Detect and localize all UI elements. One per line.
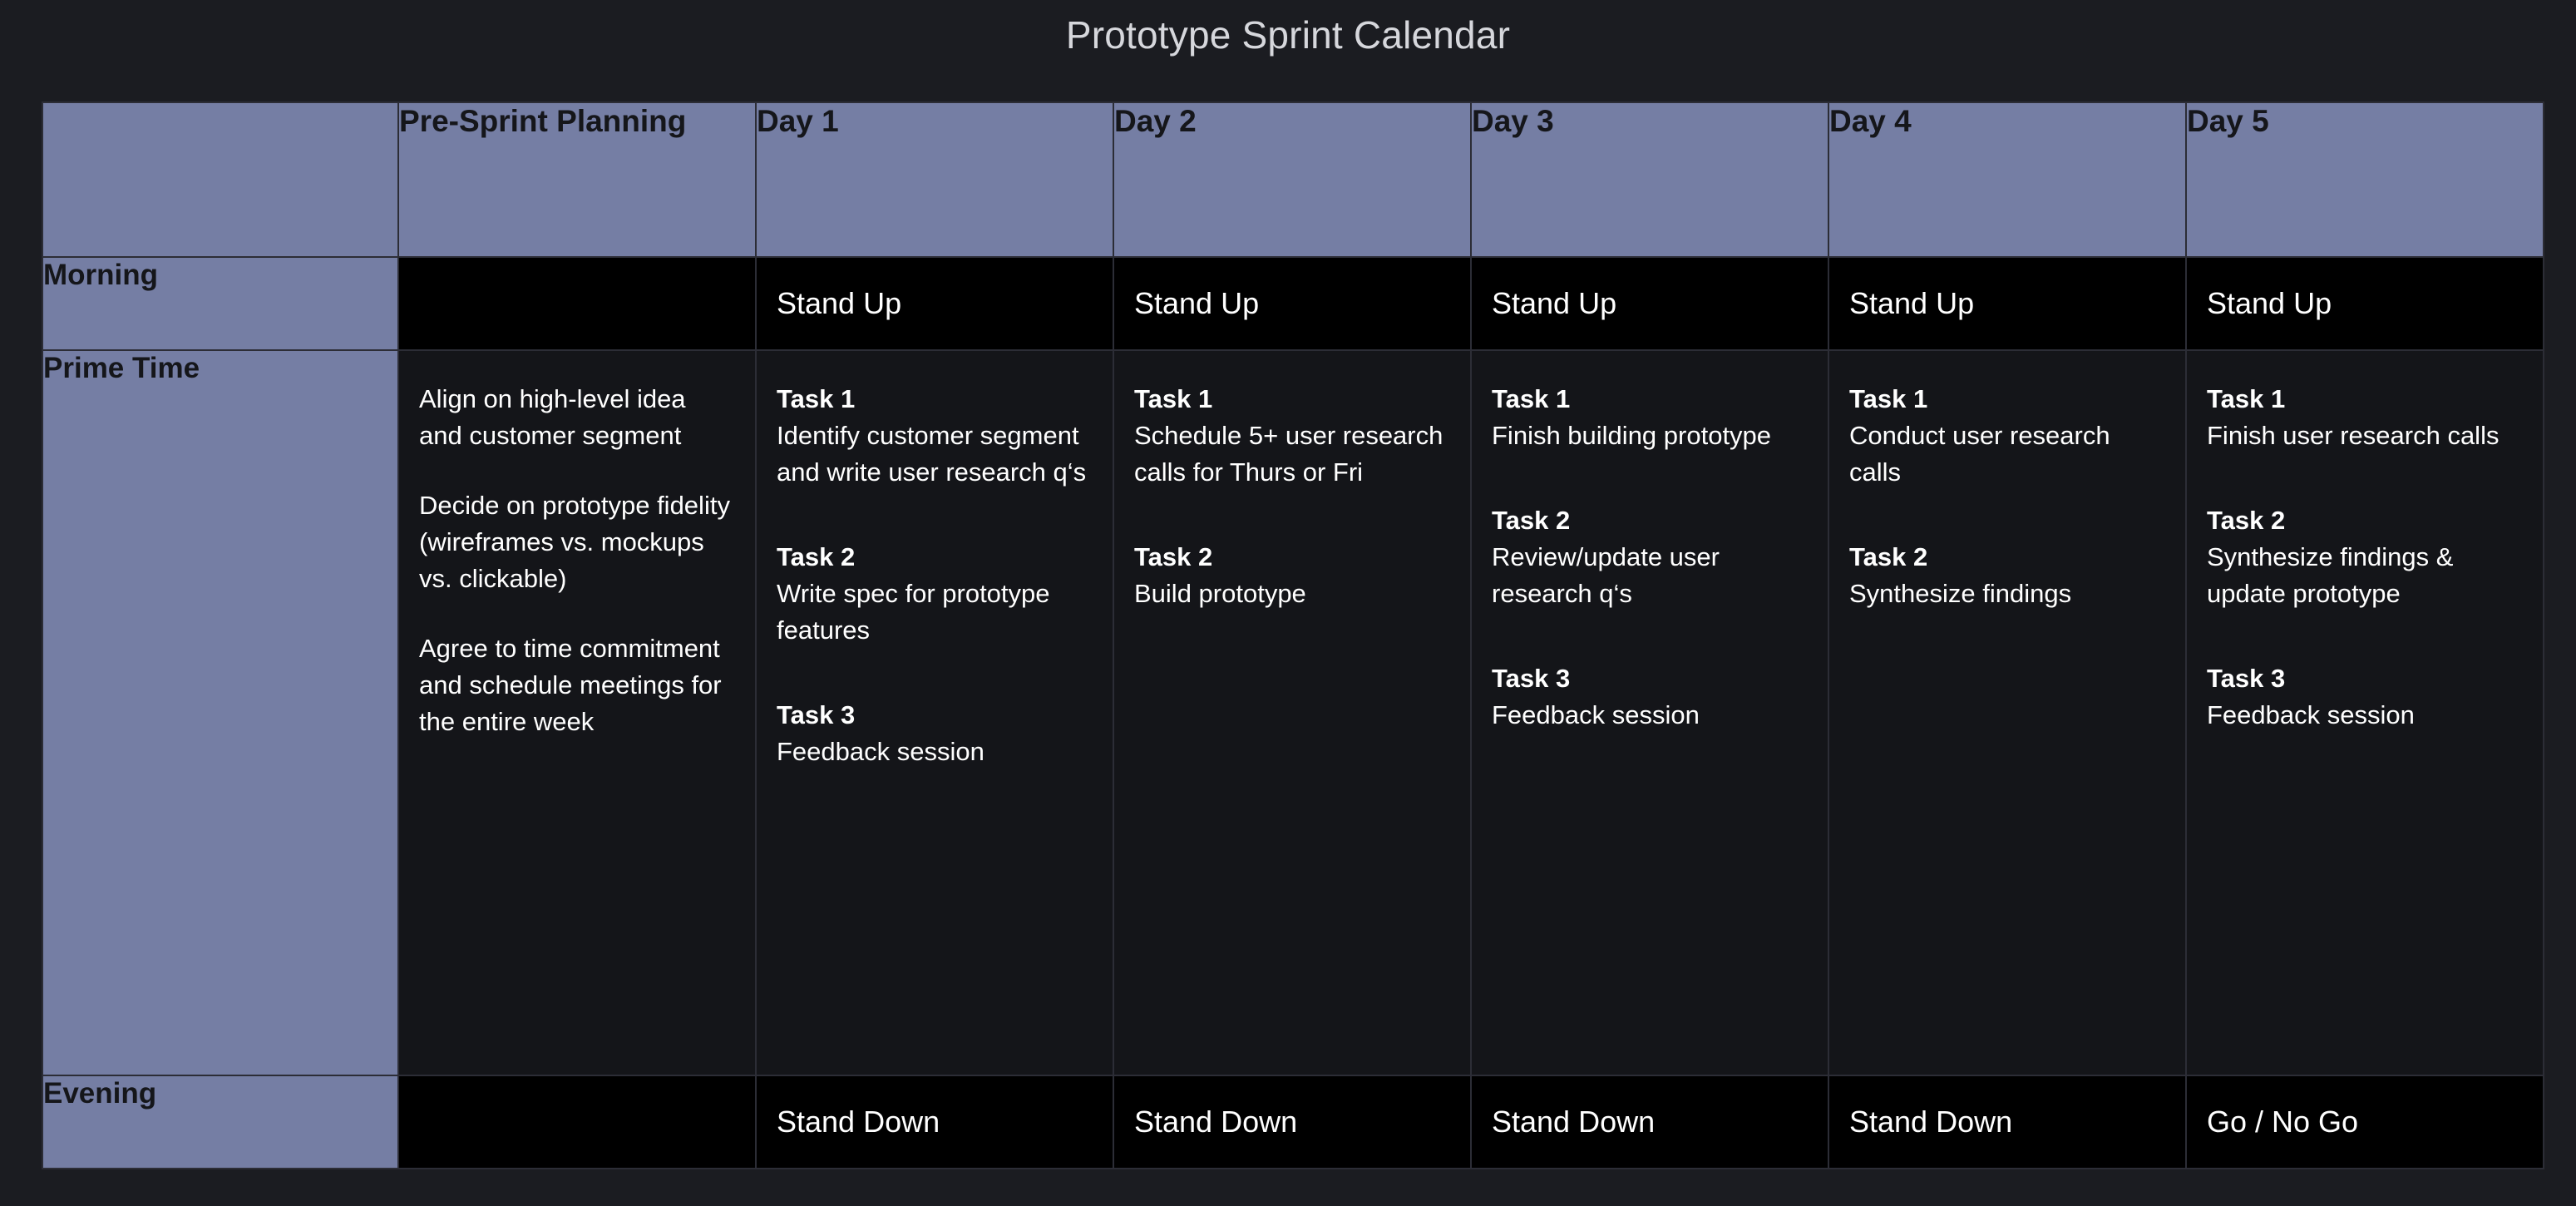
task-block: Task 1 Conduct user research calls — [1849, 381, 2165, 491]
row-label-evening: Evening — [42, 1075, 398, 1169]
task-title: Task 2 — [1492, 502, 1808, 539]
task-title: Task 1 — [777, 381, 1093, 418]
header-pre-sprint-planning: Pre-Sprint Planning — [398, 102, 756, 257]
task-block: Task 1 Schedule 5+ user research calls f… — [1134, 381, 1450, 491]
cell-morning-pre-sprint — [398, 257, 756, 350]
table-row-morning: Morning Stand Up Stand Up Stand Up Stand… — [42, 257, 2544, 350]
task-title: Task 1 — [1849, 381, 2165, 418]
table-header-row: Pre-Sprint Planning Day 1 Day 2 Day 3 Da… — [42, 102, 2544, 257]
cell-evening-day-2: Stand Down — [1113, 1075, 1471, 1169]
task-block: Task 1 Finish user research calls — [2207, 381, 2523, 454]
cell-evening-day-5: Go / No Go — [2186, 1075, 2544, 1169]
header-day-5: Day 5 — [2186, 102, 2544, 257]
task-description: Review/update user research q‘s — [1492, 539, 1808, 612]
task-description: Schedule 5+ user research calls for Thur… — [1134, 418, 1450, 491]
cell-prime-day-5: Task 1 Finish user research calls Task 2… — [2186, 350, 2544, 1075]
task-description: Feedback session — [2207, 697, 2523, 734]
task-title: Task 1 — [2207, 381, 2523, 418]
task-description: Conduct user research calls — [1849, 418, 2165, 491]
task-title: Task 3 — [777, 697, 1093, 734]
task-description: Feedback session — [1492, 697, 1808, 734]
cell-evening-day-4: Stand Down — [1828, 1075, 2186, 1169]
task-description: Synthesize findings — [1849, 576, 2165, 612]
task-block: Task 2 Synthesize findings — [1849, 539, 2165, 612]
table-row-prime-time: Prime Time Align on high-level idea and … — [42, 350, 2544, 1075]
cell-morning-day-2: Stand Up — [1113, 257, 1471, 350]
task-description: Synthesize findings & update prototype — [2207, 539, 2523, 612]
cell-evening-day-3: Stand Down — [1471, 1075, 1828, 1169]
task-block: Task 1 Finish building prototype — [1492, 381, 1808, 454]
cell-prime-day-1: Task 1 Identify customer segment and wri… — [756, 350, 1113, 1075]
task-title: Task 2 — [2207, 502, 2523, 539]
task-block: Task 3 Feedback session — [1492, 660, 1808, 734]
cell-prime-pre-sprint: Align on high-level idea and customer se… — [398, 350, 756, 1075]
calendar-container: Pre-Sprint Planning Day 1 Day 2 Day 3 Da… — [42, 101, 2541, 1169]
task-title: Task 2 — [1849, 539, 2165, 576]
calendar-page: Prototype Sprint Calendar Pre-Sprint Pla… — [0, 0, 2576, 1206]
row-label-prime-time: Prime Time — [42, 350, 398, 1075]
task-title: Task 1 — [1492, 381, 1808, 418]
header-day-2: Day 2 — [1113, 102, 1471, 257]
sprint-calendar-table: Pre-Sprint Planning Day 1 Day 2 Day 3 Da… — [42, 101, 2544, 1169]
cell-prime-day-2: Task 1 Schedule 5+ user research calls f… — [1113, 350, 1471, 1075]
cell-prime-day-3: Task 1 Finish building prototype Task 2 … — [1471, 350, 1828, 1075]
task-block: Task 3 Feedback session — [2207, 660, 2523, 734]
task-block: Task 2 Review/update user research q‘s — [1492, 502, 1808, 612]
task-block: Task 1 Identify customer segment and wri… — [777, 381, 1093, 491]
task-title: Task 3 — [1492, 660, 1808, 697]
cell-evening-day-1: Stand Down — [756, 1075, 1113, 1169]
pre-sprint-paragraph: Agree to time commitment and schedule me… — [419, 630, 735, 740]
table-row-evening: Evening Stand Down Stand Down Stand Down… — [42, 1075, 2544, 1169]
task-description: Write spec for prototype features — [777, 576, 1093, 649]
task-block: Task 2 Write spec for prototype features — [777, 539, 1093, 649]
task-description: Build prototype — [1134, 576, 1450, 612]
task-title: Task 3 — [2207, 660, 2523, 697]
header-day-3: Day 3 — [1471, 102, 1828, 257]
task-title: Task 2 — [777, 539, 1093, 576]
task-description: Finish user research calls — [2207, 418, 2523, 454]
pre-sprint-paragraph: Align on high-level idea and customer se… — [419, 381, 735, 454]
header-day-1: Day 1 — [756, 102, 1113, 257]
header-corner-blank — [42, 102, 398, 257]
task-block: Task 2 Build prototype — [1134, 539, 1450, 612]
row-label-morning: Morning — [42, 257, 398, 350]
task-title: Task 1 — [1134, 381, 1450, 418]
cell-morning-day-4: Stand Up — [1828, 257, 2186, 350]
pre-sprint-paragraph: Decide on prototype fidelity (wireframes… — [419, 487, 735, 597]
cell-evening-pre-sprint — [398, 1075, 756, 1169]
task-description: Finish building prototype — [1492, 418, 1808, 454]
page-title: Prototype Sprint Calendar — [0, 0, 2576, 70]
task-description: Identify customer segment and write user… — [777, 418, 1093, 491]
task-block: Task 3 Feedback session — [777, 697, 1093, 770]
cell-morning-day-5: Stand Up — [2186, 257, 2544, 350]
task-block: Task 2 Synthesize findings & update prot… — [2207, 502, 2523, 612]
header-day-4: Day 4 — [1828, 102, 2186, 257]
task-description: Feedback session — [777, 734, 1093, 770]
cell-morning-day-3: Stand Up — [1471, 257, 1828, 350]
cell-prime-day-4: Task 1 Conduct user research calls Task … — [1828, 350, 2186, 1075]
task-title: Task 2 — [1134, 539, 1450, 576]
cell-morning-day-1: Stand Up — [756, 257, 1113, 350]
